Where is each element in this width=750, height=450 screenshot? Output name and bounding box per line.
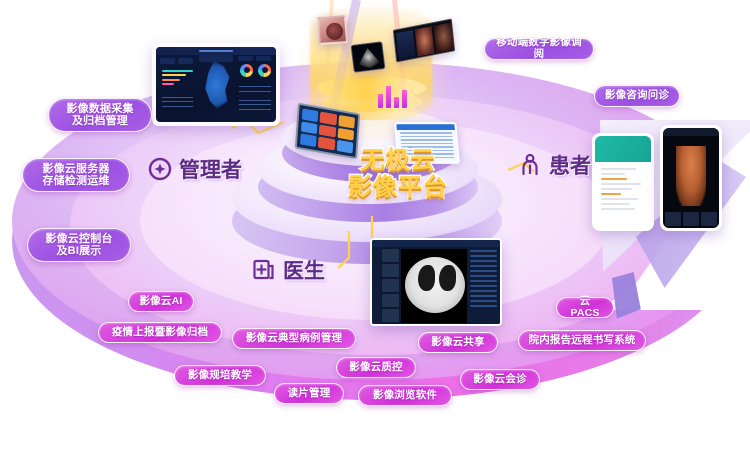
person-icon	[518, 153, 542, 177]
title-line-1: 无极云	[318, 148, 478, 175]
dashboard-donut-2	[258, 64, 271, 77]
pacs-thumbnail-strip[interactable]	[382, 249, 399, 322]
pill-image-cloud-console[interactable]: 影像云控制台 及BI展示	[27, 228, 131, 262]
bar-chart-icon	[378, 82, 412, 108]
viewer-toolbar[interactable]	[663, 128, 719, 136]
pill-cloud-pacs[interactable]: 云PACS	[556, 297, 614, 318]
role-patient-label: 患者	[549, 150, 591, 180]
pill-image-data-collection[interactable]: 影像数据采集 及归档管理	[48, 98, 152, 132]
ct-image	[401, 249, 469, 323]
role-admin[interactable]: 管理者	[148, 154, 242, 184]
pill-mobile-image-retrieval[interactable]: 移动端数字影像调阅	[484, 38, 594, 60]
endoscopy-panel[interactable]	[317, 15, 348, 45]
pill-image-cloud-server[interactable]: 影像云服务器 存储检测运维	[22, 158, 130, 192]
mobile-consult-phone[interactable]	[592, 133, 654, 231]
title-line-2: 影像平台	[318, 175, 478, 202]
pill-typical-case-management[interactable]: 影像云典型病例管理	[232, 328, 356, 349]
pill-image-browser-software[interactable]: 影像浏览软件	[358, 385, 452, 406]
role-patient[interactable]: 患者	[518, 150, 591, 180]
dashboard-titlebar	[156, 47, 276, 55]
pacs-info-panel	[467, 247, 500, 324]
circle-plus-icon	[148, 157, 172, 181]
pill-intrahospital-report-system[interactable]: 院内报告远程书写系统	[518, 330, 646, 351]
consult-app-header	[595, 136, 651, 162]
pill-image-cloud-consultation[interactable]: 影像云会诊	[460, 369, 540, 390]
bi-dashboard-laptop[interactable]	[152, 43, 280, 126]
pacs-ct-viewer[interactable]	[370, 238, 502, 326]
pill-image-consultation[interactable]: 影像咨询问诊	[594, 85, 680, 107]
pill-image-cloud-ai[interactable]: 影像云AI	[128, 291, 194, 312]
role-doctor[interactable]: 医生	[252, 255, 325, 285]
role-doctor-label: 医生	[283, 255, 325, 285]
viewer-thumbnails[interactable]	[665, 212, 717, 226]
mobile-3d-viewer-phone[interactable]	[660, 125, 722, 231]
pill-image-cloud-qc[interactable]: 影像云质控	[336, 357, 416, 378]
dashboard-donut-1	[240, 64, 253, 77]
medical-record-plus-icon	[252, 258, 276, 282]
platform-title: 无极云 影像平台	[318, 148, 478, 202]
pill-epidemic-report-archive[interactable]: 疫情上报暨影像归档	[98, 322, 222, 343]
dashboard-map	[197, 61, 235, 109]
spine-3d-render	[676, 146, 706, 206]
pill-imaging-training[interactable]: 影像规培教学	[174, 365, 266, 386]
role-admin-label: 管理者	[179, 154, 242, 184]
infographic-canvas: 无极云 影像平台 管理者 患者	[0, 0, 750, 450]
pill-reading-management[interactable]: 读片管理	[274, 383, 344, 404]
pill-image-cloud-sharing[interactable]: 影像云共享	[418, 332, 498, 353]
ultrasound-panel[interactable]	[350, 41, 385, 73]
